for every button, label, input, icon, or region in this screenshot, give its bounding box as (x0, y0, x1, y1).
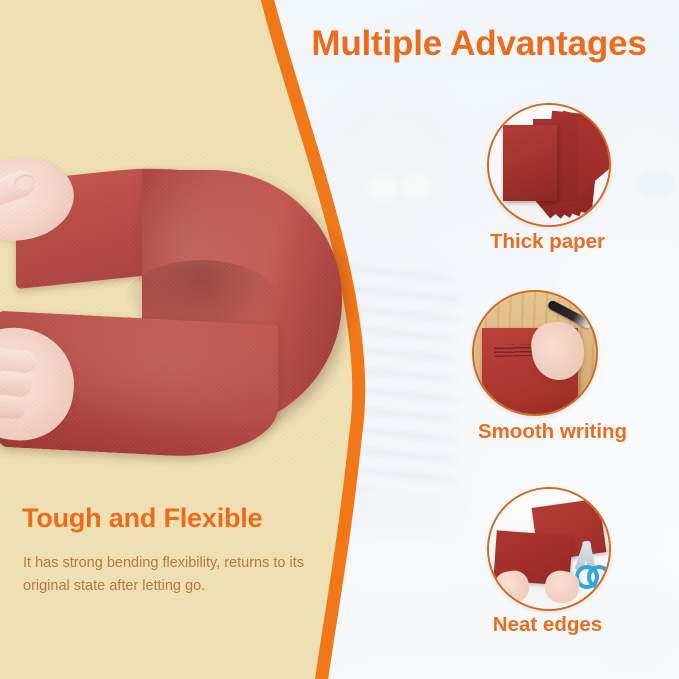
feature-label-neat-edges: Neat edges (440, 613, 655, 637)
left-feature-description: It has strong bending flexibility, retur… (23, 552, 353, 599)
cardstock-sheet-front (503, 125, 557, 201)
feature-image-smooth-writing (472, 290, 598, 416)
finger (0, 368, 33, 397)
bending-paper-photo (0, 150, 337, 470)
feature-label-smooth-writing: Smooth writing (430, 420, 675, 444)
finger (0, 345, 37, 374)
feature-image-neat-edges (487, 487, 611, 611)
promo-banner: Multiple Advantages Tough and Flexible I… (0, 0, 679, 679)
feature-label-thick-paper: Thick paper (440, 230, 655, 254)
left-feature-title: Tough and Flexible (22, 503, 352, 534)
scissors-handle (587, 565, 611, 589)
page-title: Multiple Advantages (284, 25, 674, 62)
finger (0, 392, 26, 420)
feature-image-thick-paper (487, 103, 611, 227)
finger (0, 168, 38, 213)
